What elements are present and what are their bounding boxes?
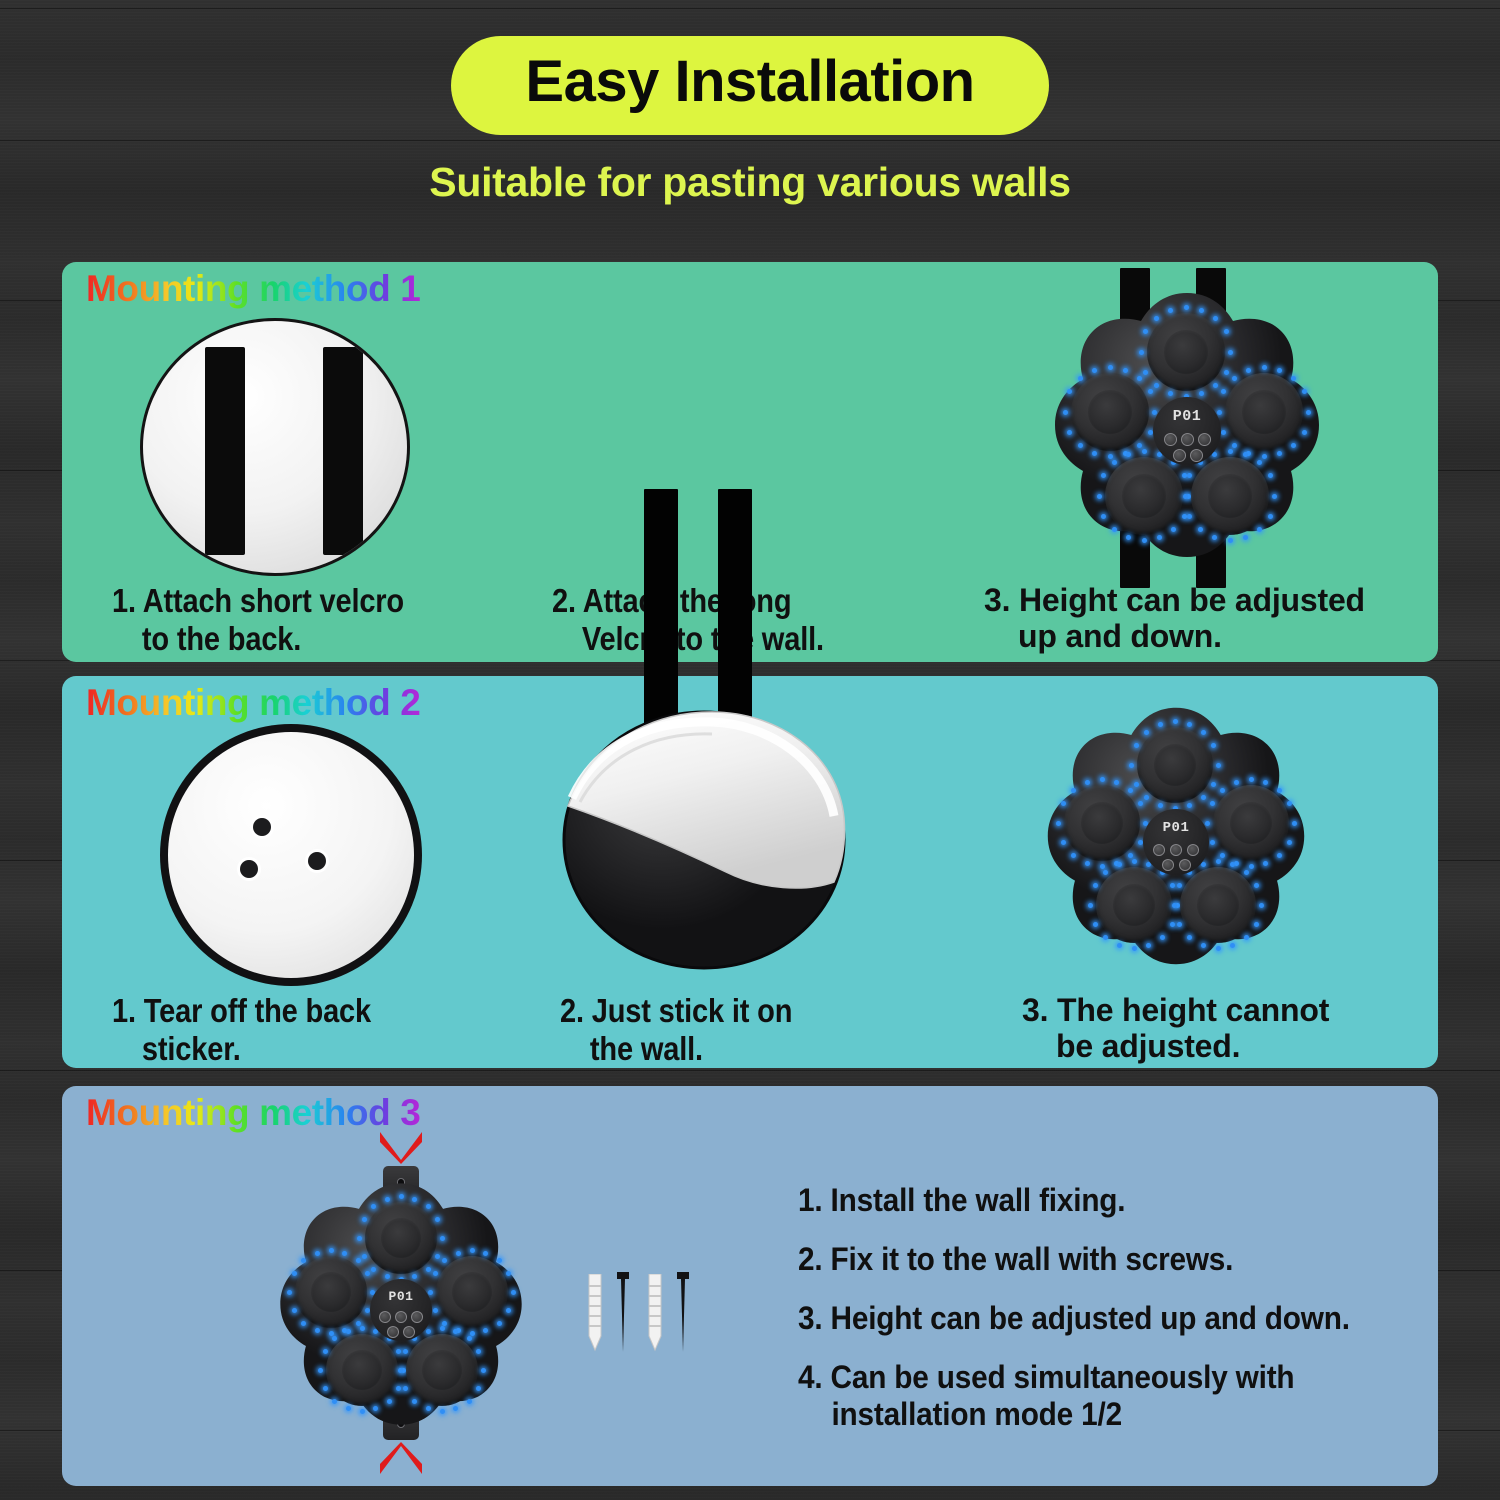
instruction-item-2: 2. Fix it to the wall with screws. bbox=[798, 1241, 1393, 1278]
led-ring-bottom-left bbox=[321, 1329, 403, 1411]
punch-pad-left bbox=[1071, 373, 1149, 451]
peel-sticker-image bbox=[556, 706, 852, 974]
instruction-item-1: 1. Install the wall fixing. bbox=[798, 1182, 1393, 1219]
punch-pad-right bbox=[1225, 373, 1303, 451]
punch-pad-right bbox=[436, 1256, 508, 1328]
step-line-2: the wall. bbox=[560, 1030, 930, 1068]
screw-icon-2 bbox=[676, 1272, 690, 1354]
led-ring-right bbox=[1208, 780, 1295, 867]
arrow-up-icon bbox=[378, 1442, 424, 1476]
method-1-step-1-caption: 1. Attach short velcro to the back. bbox=[112, 582, 482, 657]
control-button-5[interactable] bbox=[1179, 859, 1191, 871]
sticker-hole-left bbox=[240, 860, 258, 878]
control-button-4[interactable] bbox=[387, 1326, 399, 1338]
control-button-4[interactable] bbox=[1162, 859, 1174, 871]
punch-pad-top bbox=[1137, 727, 1213, 803]
device-back-disc-image bbox=[140, 318, 410, 576]
control-button-4[interactable] bbox=[1173, 449, 1186, 462]
led-ring-right bbox=[1220, 368, 1309, 457]
punch-pad-right bbox=[1213, 785, 1289, 861]
boxing-machine-device-method-3: P01 bbox=[273, 1176, 529, 1432]
step-number: 3. bbox=[984, 582, 1010, 618]
method-2-step-1-caption: 1. Tear off the back sticker. bbox=[112, 992, 482, 1067]
back-sticker-image bbox=[160, 724, 422, 986]
step-line-1: Height can be adjusted bbox=[1019, 582, 1365, 618]
control-button-1[interactable] bbox=[1153, 844, 1165, 856]
led-ring-top bbox=[1142, 308, 1231, 397]
instruction-number: 4. bbox=[798, 1359, 822, 1395]
control-button-5[interactable] bbox=[403, 1326, 415, 1338]
method-2-step-2-caption: 2. Just stick it on the wall. bbox=[560, 992, 930, 1067]
led-ring-bottom-right bbox=[1186, 452, 1275, 541]
instruction-text: Fix it to the wall with screws. bbox=[831, 1241, 1234, 1277]
step-number: 1. bbox=[112, 582, 136, 619]
instruction-number: 1. bbox=[798, 1182, 822, 1218]
instruction-text: Height can be adjusted up and down. bbox=[831, 1300, 1350, 1336]
led-ring-left bbox=[290, 1251, 372, 1333]
arrow-down-icon bbox=[378, 1130, 424, 1164]
instruction-text-continued: installation mode 1/2 bbox=[798, 1396, 1393, 1433]
punch-pad-bottom-right bbox=[1191, 457, 1269, 535]
punch-pad-bottom-left bbox=[1105, 457, 1183, 535]
punch-pad-top bbox=[1147, 313, 1225, 391]
method-1-step-3-caption: 3. Height can be adjusted up and down. bbox=[984, 582, 1434, 655]
led-ring-bottom-right bbox=[1175, 862, 1262, 949]
led-ring-bottom-left bbox=[1091, 862, 1178, 949]
step-line-1: Tear off the back bbox=[144, 992, 371, 1029]
instruction-text: Can be used simultaneously with bbox=[831, 1359, 1295, 1395]
led-ring-left bbox=[1059, 780, 1146, 867]
step-line-1: Attach short velcro bbox=[143, 582, 404, 619]
sticker-hole-top bbox=[253, 818, 271, 836]
method-1-label: Mounting method 1 bbox=[86, 268, 420, 310]
step-number: 3. bbox=[1022, 992, 1048, 1028]
instruction-number: 2. bbox=[798, 1241, 822, 1277]
punch-pad-left bbox=[1064, 785, 1140, 861]
infographic-page: Easy Installation Suitable for pasting v… bbox=[0, 0, 1500, 1500]
led-ring-bottom-left bbox=[1100, 452, 1189, 541]
method-2-step-3-caption: 3. The height cannot be adjusted. bbox=[1022, 992, 1452, 1065]
step-number: 2. bbox=[560, 992, 584, 1029]
control-hub: P01 bbox=[1143, 809, 1209, 875]
control-hub: P01 bbox=[1153, 397, 1221, 465]
page-subtitle: Suitable for pasting various walls bbox=[0, 159, 1500, 206]
punch-pad-left bbox=[295, 1256, 367, 1328]
step-line-2: be adjusted. bbox=[1022, 1028, 1452, 1064]
device-display: P01 bbox=[370, 1289, 432, 1304]
device-display: P01 bbox=[1153, 408, 1221, 425]
screw-icon-1 bbox=[616, 1272, 630, 1354]
sticker-hole-right bbox=[308, 852, 326, 870]
device-display: P01 bbox=[1143, 820, 1209, 836]
punch-pad-top bbox=[365, 1202, 437, 1274]
control-button-1[interactable] bbox=[379, 1311, 391, 1323]
control-button-1[interactable] bbox=[1164, 433, 1177, 446]
step-number: 1. bbox=[112, 992, 136, 1029]
wall-anchor-icon-2 bbox=[644, 1274, 666, 1352]
wall-anchor-icon-1 bbox=[584, 1274, 606, 1352]
instruction-item-4: 4. Can be used simultaneously with insta… bbox=[798, 1359, 1393, 1433]
punch-pad-bottom-right bbox=[1180, 867, 1256, 943]
punch-pad-bottom-left bbox=[326, 1334, 398, 1406]
method-3-label: Mounting method 3 bbox=[86, 1092, 420, 1134]
page-title: Easy Installation bbox=[451, 36, 1048, 135]
header: Easy Installation bbox=[0, 0, 1500, 135]
control-button-2[interactable] bbox=[1181, 433, 1194, 446]
led-ring-right bbox=[431, 1251, 513, 1333]
punch-pad-bottom-left bbox=[1096, 867, 1172, 943]
step-line-2: to the back. bbox=[112, 620, 482, 658]
step-line-1: Attach the long bbox=[583, 582, 792, 619]
control-button-3[interactable] bbox=[1198, 433, 1211, 446]
control-button-2[interactable] bbox=[1170, 844, 1182, 856]
led-ring-top bbox=[360, 1197, 442, 1279]
led-ring-left bbox=[1066, 368, 1155, 457]
control-button-3[interactable] bbox=[411, 1311, 423, 1323]
boxing-machine-device-method-1: P01 bbox=[1047, 285, 1327, 565]
led-ring-bottom-right bbox=[401, 1329, 483, 1411]
control-button-5[interactable] bbox=[1190, 449, 1203, 462]
punch-pad-bottom-right bbox=[406, 1334, 478, 1406]
control-button-2[interactable] bbox=[395, 1311, 407, 1323]
step-line-1: The height cannot bbox=[1057, 992, 1329, 1028]
boxing-machine-device-method-2: P01 bbox=[1040, 700, 1312, 972]
step-number: 2. bbox=[552, 582, 576, 619]
instruction-item-3: 3. Height can be adjusted up and down. bbox=[798, 1300, 1393, 1337]
instruction-text: Install the wall fixing. bbox=[831, 1182, 1126, 1218]
step-line-2: up and down. bbox=[984, 618, 1434, 654]
instruction-number: 3. bbox=[798, 1300, 822, 1336]
method-3-instruction-list: 1. Install the wall fixing. 2. Fix it to… bbox=[798, 1182, 1438, 1456]
step-line-2: sticker. bbox=[112, 1030, 482, 1068]
control-hub: P01 bbox=[370, 1279, 432, 1341]
control-button-3[interactable] bbox=[1187, 844, 1199, 856]
method-2-label: Mounting method 2 bbox=[86, 682, 420, 724]
step-line-1: Just stick it on bbox=[592, 992, 793, 1029]
